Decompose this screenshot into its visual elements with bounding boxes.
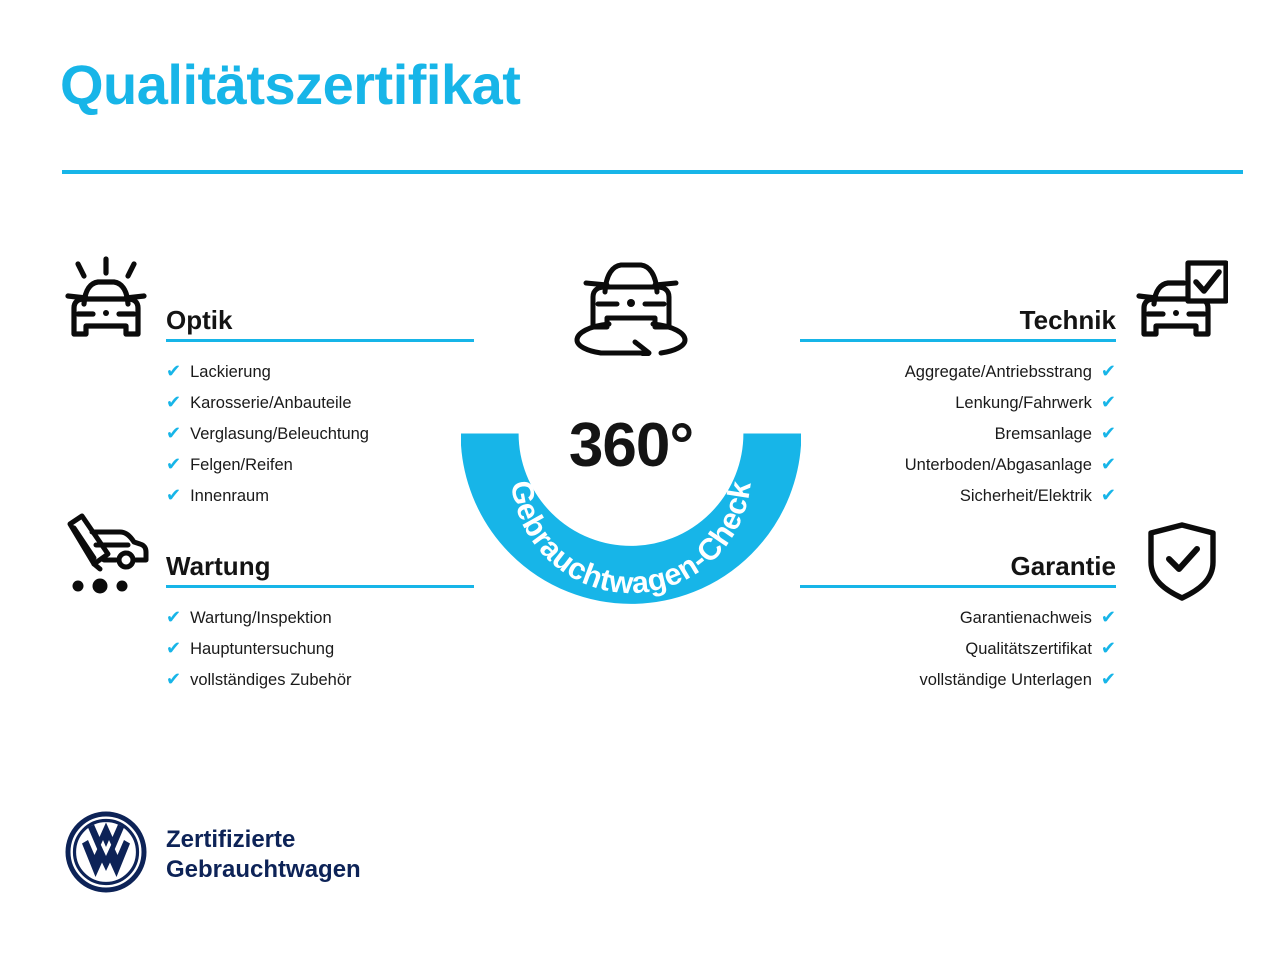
header-divider	[62, 170, 1243, 174]
list-item-label: Unterboden/Abgasanlage	[905, 450, 1092, 480]
footer-line-1: Zertifizierte	[166, 826, 295, 853]
check-icon: ✔	[1101, 449, 1116, 479]
section-title-garantie: Garantie	[1011, 551, 1117, 582]
check-icon: ✔	[166, 356, 181, 386]
list-item-label: Qualitätszertifikat	[965, 634, 1092, 664]
check-icon: ✔	[1101, 418, 1116, 448]
list-item: Sicherheit/Elektrik✔	[800, 480, 1116, 511]
list-item-label: Felgen/Reifen	[190, 450, 293, 480]
checklist-garantie: Garantienachweis✔ Qualitätszertifikat✔ v…	[800, 602, 1116, 695]
list-item: ✔Innenraum	[166, 480, 474, 511]
list-item-label: Lackierung	[190, 357, 271, 387]
section-technik: Technik Aggregate/Antriebsstrang✔ Lenkun…	[800, 296, 1116, 511]
checklist-technik: Aggregate/Antriebsstrang✔ Lenkung/Fahrwe…	[800, 356, 1116, 511]
check-icon: ✔	[1101, 387, 1116, 417]
section-garantie: Garantie Garantienachweis✔ Qualitätszert…	[800, 542, 1116, 695]
badge-curved-label: Gebrauchtwagen-Check	[504, 478, 758, 601]
check-icon: ✔	[166, 418, 181, 448]
page-title: Qualitätszertifikat	[60, 56, 520, 115]
section-header: Garantie	[800, 542, 1116, 588]
list-item: Garantienachweis✔	[800, 602, 1116, 633]
list-item-label: vollständige Unterlagen	[919, 665, 1091, 695]
check-icon: ✔	[166, 480, 181, 510]
car-service-pencil-icon	[60, 512, 152, 600]
list-item: ✔Wartung/Inspektion	[166, 602, 474, 633]
list-item: ✔Hauptuntersuchung	[166, 633, 474, 664]
list-item: Qualitätszertifikat✔	[800, 633, 1116, 664]
list-item: ✔Felgen/Reifen	[166, 449, 474, 480]
check-icon: ✔	[1101, 480, 1116, 510]
badge-number: 360°	[461, 410, 801, 481]
list-item: Unterboden/Abgasanlage✔	[800, 449, 1116, 480]
section-title-wartung: Wartung	[166, 551, 270, 582]
check-icon: ✔	[1101, 664, 1116, 694]
list-item-label: Bremsanlage	[995, 419, 1092, 449]
section-header: Technik	[800, 296, 1116, 342]
footer-brand-text: ZertifizierteGebrauchtwagen	[166, 825, 361, 884]
check-icon: ✔	[166, 633, 181, 663]
list-item: ✔Karosserie/Anbauteile	[166, 387, 474, 418]
footer-brand: ZertifizierteGebrauchtwagen	[64, 810, 361, 899]
car-checkbox-icon	[1136, 258, 1228, 350]
list-item: Aggregate/Antriebsstrang✔	[800, 356, 1116, 387]
check-icon: ✔	[166, 602, 181, 632]
list-item-label: Aggregate/Antriebsstrang	[905, 357, 1092, 387]
section-divider	[166, 585, 474, 588]
gebrauchtwagen-check-badge: Gebrauchtwagen-Check 360°	[461, 318, 801, 628]
check-icon: ✔	[166, 664, 181, 694]
section-header: Wartung	[166, 542, 474, 588]
section-divider	[800, 339, 1116, 342]
section-wartung: Wartung ✔Wartung/Inspektion ✔Hauptunters…	[166, 542, 474, 695]
check-icon: ✔	[166, 449, 181, 479]
list-item-label: Innenraum	[190, 481, 269, 511]
list-item-label: Hauptuntersuchung	[190, 634, 334, 664]
check-icon: ✔	[1101, 602, 1116, 632]
list-item-label: Garantienachweis	[960, 603, 1092, 633]
section-title-technik: Technik	[1020, 305, 1116, 336]
section-header: Optik	[166, 296, 474, 342]
list-item-label: Wartung/Inspektion	[190, 603, 332, 633]
list-item: Bremsanlage✔	[800, 418, 1116, 449]
list-item-label: Lenkung/Fahrwerk	[955, 388, 1092, 418]
check-icon: ✔	[1101, 633, 1116, 663]
vw-logo	[64, 810, 148, 899]
shield-check-icon	[1145, 520, 1219, 602]
checklist-wartung: ✔Wartung/Inspektion ✔Hauptuntersuchung ✔…	[166, 602, 474, 695]
list-item: ✔Lackierung	[166, 356, 474, 387]
car-shine-icon	[60, 256, 152, 348]
svg-text:Gebrauchtwagen-Check: Gebrauchtwagen-Check	[504, 478, 758, 601]
section-divider	[166, 339, 474, 342]
list-item-label: Verglasung/Beleuchtung	[190, 419, 369, 449]
section-divider	[800, 585, 1116, 588]
list-item: ✔vollständiges Zubehör	[166, 664, 474, 695]
footer-line-2: Gebrauchtwagen	[166, 856, 361, 883]
list-item-label: vollständiges Zubehör	[190, 665, 351, 695]
check-icon: ✔	[166, 387, 181, 417]
list-item: Lenkung/Fahrwerk✔	[800, 387, 1116, 418]
list-item-label: Karosserie/Anbauteile	[190, 388, 351, 418]
section-optik: Optik ✔Lackierung ✔Karosserie/Anbauteile…	[166, 296, 474, 511]
car-rotate-icon	[561, 252, 701, 356]
list-item: ✔Verglasung/Beleuchtung	[166, 418, 474, 449]
list-item: vollständige Unterlagen✔	[800, 664, 1116, 695]
list-item-label: Sicherheit/Elektrik	[960, 481, 1092, 511]
checklist-optik: ✔Lackierung ✔Karosserie/Anbauteile ✔Verg…	[166, 356, 474, 511]
check-icon: ✔	[1101, 356, 1116, 386]
section-title-optik: Optik	[166, 305, 232, 336]
